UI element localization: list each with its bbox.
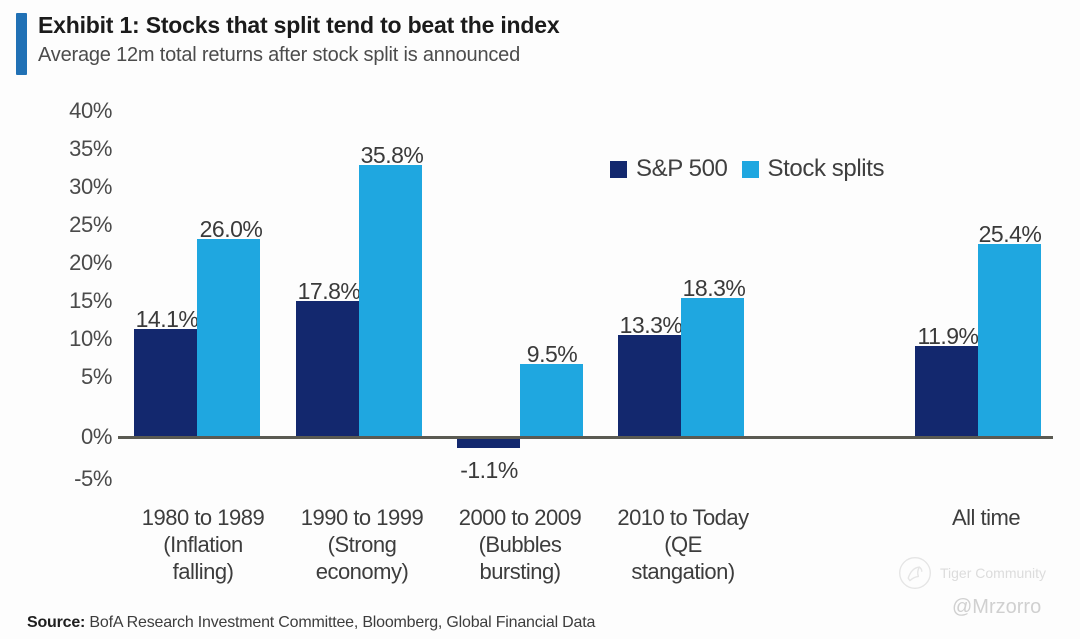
x-category-2010s-line2: (QE: [588, 531, 778, 558]
x-category-2000s-line3: bursting): [430, 558, 610, 585]
x-category-1990s-line3: economy): [272, 558, 452, 585]
bar-series-container: 14.1% 26.0% 17.8% 35.8% -1.1% 9.5% 13.3%…: [0, 88, 1080, 508]
x-category-2000s: 2000 to 2009 (Bubbles bursting): [430, 504, 610, 585]
bar-label-stocksplits-1990s: 35.8%: [361, 142, 424, 169]
bar-sp500-1990s[interactable]: [296, 301, 359, 436]
x-category-2000s-line2: (Bubbles: [430, 531, 610, 558]
chart-header: Exhibit 1: Stocks that split tend to bea…: [0, 0, 1080, 88]
bar-stocksplits-2010s[interactable]: [681, 298, 744, 436]
source-text: BofA Research Investment Committee, Bloo…: [85, 614, 595, 631]
x-category-1980s: 1980 to 1989 (Inflation falling): [113, 504, 293, 585]
bar-label-stocksplits-alltime: 25.4%: [979, 221, 1042, 248]
x-category-2010s: 2010 to Today (QE stangation): [588, 504, 778, 585]
x-category-alltime: All time: [896, 504, 1076, 531]
x-category-1980s-line1: 1980 to 1989: [113, 504, 293, 531]
bar-sp500-1980s[interactable]: [134, 329, 197, 436]
bar-stocksplits-2000s[interactable]: [520, 364, 583, 436]
accent-bar: [16, 13, 27, 75]
bar-label-stocksplits-2000s: 9.5%: [527, 341, 577, 368]
tiger-logo-icon: [898, 556, 932, 590]
bar-label-sp500-1990s: 17.8%: [298, 278, 361, 305]
bar-label-sp500-1980s: 14.1%: [136, 306, 199, 333]
watermark-handle: @Mrzorro: [952, 596, 1041, 619]
x-category-1980s-line3: falling): [113, 558, 293, 585]
bar-sp500-2000s[interactable]: [457, 439, 520, 448]
x-category-2010s-line3: stangation): [588, 558, 778, 585]
bar-sp500-2010s[interactable]: [618, 335, 681, 436]
source-prefix: Source:: [27, 614, 85, 631]
bar-label-stocksplits-1980s: 26.0%: [200, 216, 263, 243]
chart-page: Exhibit 1: Stocks that split tend to bea…: [0, 0, 1080, 639]
bar-stocksplits-1980s[interactable]: [197, 239, 260, 436]
bar-label-sp500-alltime: 11.9%: [917, 323, 978, 350]
x-category-2000s-line1: 2000 to 2009: [430, 504, 610, 531]
source-note: Source: BofA Research Investment Committ…: [27, 614, 595, 632]
watermark-community-label: Tiger Community: [940, 565, 1046, 581]
x-category-2010s-line1: 2010 to Today: [588, 504, 778, 531]
x-category-1990s: 1990 to 1999 (Strong economy): [272, 504, 452, 585]
page-subtitle: Average 12m total returns after stock sp…: [38, 44, 520, 67]
bar-label-stocksplits-2010s: 18.3%: [683, 275, 746, 302]
plot-area: 40% 35% 30% 25% 20% 15% 10% 5% 0% -5% 14…: [0, 88, 1080, 508]
bar-stocksplits-1990s[interactable]: [359, 165, 422, 436]
page-title: Exhibit 1: Stocks that split tend to bea…: [38, 12, 559, 39]
x-category-1990s-line2: (Strong: [272, 531, 452, 558]
x-category-1980s-line2: (Inflation: [113, 531, 293, 558]
bar-label-sp500-2010s: 13.3%: [620, 312, 683, 339]
x-category-1990s-line1: 1990 to 1999: [272, 504, 452, 531]
watermark: Tiger Community: [898, 556, 1046, 590]
bar-label-sp500-2000s: -1.1%: [460, 457, 518, 484]
bar-sp500-alltime[interactable]: [915, 346, 978, 436]
bar-stocksplits-alltime[interactable]: [978, 244, 1041, 436]
x-category-alltime-line1: All time: [896, 504, 1076, 531]
